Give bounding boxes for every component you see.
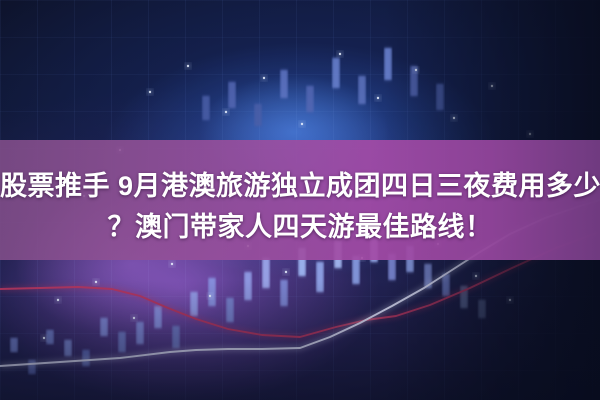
banner-title-line-2: ？澳门带家人四天游最佳路线！	[0, 207, 600, 248]
banner-title-line-1: 股票推手 9月港澳旅游独立成团四日三夜费用多少	[0, 166, 600, 207]
banner-image: 股票推手 9月港澳旅游独立成团四日三夜费用多少 ？澳门带家人四天游最佳路线！	[0, 0, 600, 400]
